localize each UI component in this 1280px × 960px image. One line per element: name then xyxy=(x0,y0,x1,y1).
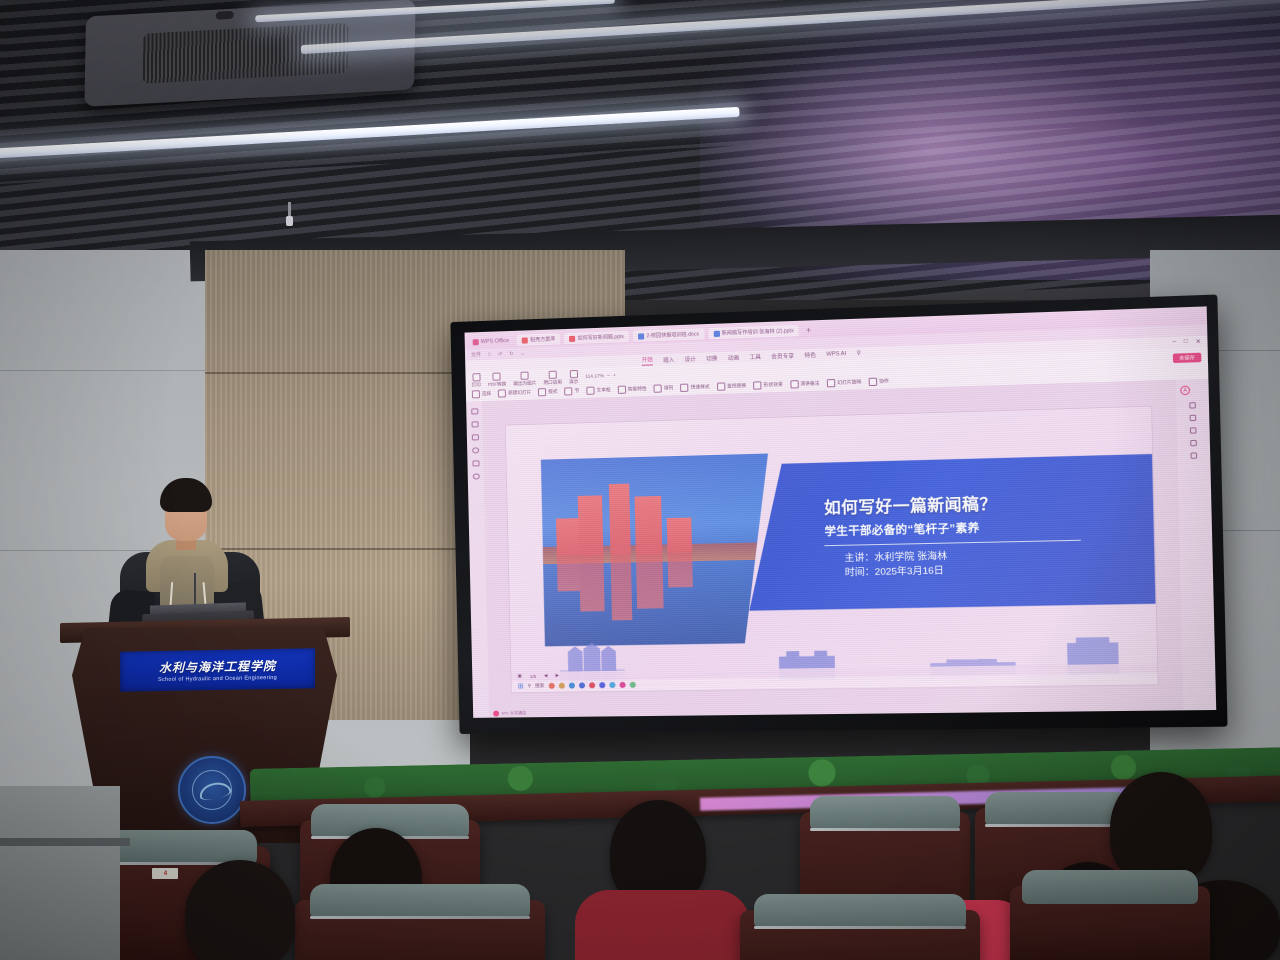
search-icon[interactable]: ⚲ xyxy=(857,350,861,356)
section-button[interactable]: 节 xyxy=(565,387,580,396)
present-button[interactable]: 演示 xyxy=(569,370,579,385)
ac-grille-icon xyxy=(143,23,349,84)
tab-transition[interactable]: 切换 xyxy=(706,354,718,363)
browser-icon[interactable] xyxy=(609,682,615,688)
close-button[interactable]: ✕ xyxy=(1195,338,1201,346)
tab-start[interactable]: 开始 xyxy=(642,355,653,365)
print-icon xyxy=(472,373,480,381)
seat-trim xyxy=(985,824,1130,827)
select-button[interactable]: 选择 xyxy=(472,390,491,399)
tab-label: 如何写好新闻稿.pptx xyxy=(577,333,624,342)
slide-title: 如何写好一篇新闻稿？ xyxy=(824,486,1154,519)
pocket-icon xyxy=(548,371,556,379)
wechat-icon[interactable] xyxy=(569,683,575,689)
notes-icon xyxy=(790,380,799,388)
select-label: 选择 xyxy=(482,391,491,397)
edge-icon[interactable] xyxy=(548,683,554,689)
ceiling-pendant-sensor xyxy=(288,202,291,218)
layout-icon xyxy=(538,388,546,396)
seat-trim xyxy=(810,828,960,831)
collab-label: 协作 xyxy=(879,378,889,384)
quick-style-button[interactable]: 快速样式 xyxy=(680,383,709,392)
dock-icon xyxy=(522,337,528,343)
find-replace-icon xyxy=(717,382,725,390)
section-icon xyxy=(565,387,573,395)
seat-headrest xyxy=(985,792,1130,826)
ink-icon[interactable] xyxy=(472,460,479,466)
seat-number-plate: 4 xyxy=(152,868,178,879)
textbox-icon xyxy=(586,387,594,395)
led-presentation-screen[interactable]: WPS Office 稻壳方案库 如何写好新闻稿.pptx 2-校园快 xyxy=(450,294,1227,734)
pdf-convert-icon xyxy=(493,372,501,380)
taskbar-search-label[interactable]: 搜索 xyxy=(535,683,544,689)
collab-icon xyxy=(869,378,878,386)
arrange-icon xyxy=(654,384,662,392)
tab-animation[interactable]: 动画 xyxy=(728,353,740,362)
screen-bezel: WPS Office 稻壳方案库 如何写好新闻稿.pptx 2-校园快 xyxy=(450,294,1227,734)
ai-assistant-icon[interactable]: A xyxy=(1180,386,1190,396)
slideshow-icon xyxy=(827,379,836,387)
new-tab-button[interactable]: + xyxy=(803,325,814,335)
notes-button[interactable]: 演讲备注 xyxy=(790,379,820,388)
find-replace-button[interactable]: 查找替换 xyxy=(717,382,746,391)
podium-nameplate: 水利与海洋工程学院 School of Hydraulic and Ocean … xyxy=(120,648,315,691)
notes-panel-icon[interactable] xyxy=(471,434,478,440)
watermark-label: 1PC 大写通话 xyxy=(501,710,526,716)
more-icon[interactable] xyxy=(1190,452,1197,458)
tab-tools[interactable]: 工具 xyxy=(749,352,761,361)
chevron-down-icon[interactable]: ⌄ xyxy=(520,350,524,356)
audience-shoulders xyxy=(575,890,750,960)
quick-style-label: 快速样式 xyxy=(691,384,710,391)
podium-sign-chinese: 水利与海洋工程学院 xyxy=(159,657,276,676)
design-icon[interactable] xyxy=(1189,402,1196,408)
ppt-icon xyxy=(713,330,719,336)
quick-style-icon xyxy=(680,384,688,392)
seat-headrest xyxy=(754,894,965,928)
tab-member[interactable]: 会员专享 xyxy=(771,351,794,360)
note-icon[interactable] xyxy=(629,682,635,688)
wps-brand-logo: WPS Office xyxy=(469,336,513,346)
status-prev-icon[interactable]: ◀ xyxy=(544,673,548,679)
layout-button[interactable]: 版式 xyxy=(538,388,558,397)
campus-building-photo xyxy=(541,453,773,646)
ppt-icon xyxy=(569,335,575,341)
arrange-button[interactable]: 排列 xyxy=(654,384,674,393)
search-icon[interactable]: ⚲ xyxy=(528,683,532,689)
wps-workspace[interactable]: 如何写好一篇新闻稿？ 学生干部必备的“笔杆子”素养 主讲：水利学院 张海林 时间… xyxy=(466,379,1216,718)
new-slide-label: 新建幻灯片 xyxy=(508,390,531,397)
presenter-hair xyxy=(160,478,212,512)
wps-ai-button[interactable]: WPS AI xyxy=(826,350,846,357)
stage-floor xyxy=(0,786,120,960)
notes-label: 演讲备注 xyxy=(800,380,819,387)
seat-headrest xyxy=(810,796,960,830)
save-icon[interactable]: □ xyxy=(488,351,491,357)
shape-icon[interactable] xyxy=(1190,440,1197,446)
zoom-value: 114.17% xyxy=(585,374,604,380)
seat[interactable] xyxy=(295,900,545,960)
export-image-icon xyxy=(521,372,529,380)
layout-label: 版式 xyxy=(548,389,557,395)
maximize-button[interactable]: □ xyxy=(1184,338,1188,345)
export-image-label: 输出为图片 xyxy=(513,380,536,387)
smart-icon xyxy=(618,386,626,394)
tab-insert[interactable]: 插入 xyxy=(663,355,674,363)
folder-icon[interactable] xyxy=(558,683,564,689)
tab-design[interactable]: 设计 xyxy=(685,354,696,362)
lecture-hall-scene: WPS Office 稻壳方案库 如何写好新闻稿.pptx 2-校园快 xyxy=(0,0,1280,960)
tab-label: 2-校园快报培训班.docx xyxy=(646,330,699,339)
smart-label: 智能特性 xyxy=(628,386,647,393)
document-tab-active[interactable]: 新闻稿写作培训 张海林 (2).pptx xyxy=(708,325,799,339)
music-icon[interactable] xyxy=(589,682,595,688)
present-label: 演示 xyxy=(569,379,578,385)
print-button[interactable]: 打印 xyxy=(471,373,481,388)
find-replace-label: 查找替换 xyxy=(727,383,746,390)
seat-trim xyxy=(754,926,965,929)
pocket-label: 用口袋用 xyxy=(543,380,562,387)
pocket-button[interactable]: 用口袋用 xyxy=(543,370,562,386)
pdf-convert-label: PDF转换 xyxy=(488,381,507,388)
wps-office-window[interactable]: WPS Office 稻壳方案库 如何写好新闻稿.pptx 2-校园快 xyxy=(465,306,1217,717)
wps-brand-label: WPS Office xyxy=(481,338,509,345)
section-label: 节 xyxy=(575,388,580,394)
shape-effect-label: 形状效果 xyxy=(764,382,783,389)
shape-effect-button[interactable]: 形状效果 xyxy=(753,381,783,390)
slide-1[interactable]: 如何写好一篇新闻稿？ 学生干部必备的“笔杆子”素养 主讲：水利学院 张海林 时间… xyxy=(506,407,1158,692)
arrange-label: 排列 xyxy=(664,385,674,391)
seat-trim xyxy=(310,916,530,919)
shape-effect-icon xyxy=(753,381,761,389)
window-controls[interactable]: – □ ✕ xyxy=(1172,338,1207,346)
document-tab[interactable]: 2-校园快报培训班.docx xyxy=(633,328,704,342)
comment-icon[interactable] xyxy=(472,447,479,453)
outline-icon[interactable] xyxy=(471,421,478,427)
screen-surface: WPS Office 稻壳方案库 如何写好新闻稿.pptx 2-校园快 xyxy=(465,306,1217,717)
podium-sign-english: School of Hydraulic and Ocean Engineerin… xyxy=(158,675,277,683)
slide-panel-icon[interactable] xyxy=(471,408,478,414)
textbox-label: 文本框 xyxy=(597,387,611,393)
export-image-button[interactable]: 输出为图片 xyxy=(513,371,536,387)
new-slide-icon xyxy=(498,389,506,397)
watermark-icon xyxy=(493,711,499,717)
seat-headrest xyxy=(310,884,530,918)
slideshow-label: 幻灯片放映 xyxy=(837,379,861,386)
pdf-convert-button[interactable]: PDF转换 xyxy=(488,372,507,388)
material-icon[interactable] xyxy=(1190,415,1197,421)
present-icon xyxy=(569,370,577,378)
status-page-indicator: 1/8 xyxy=(530,674,536,679)
zoom-control[interactable]: 114.17% − + xyxy=(585,374,616,380)
screen-watermark: 1PC 大写通话 xyxy=(493,710,526,716)
wps-logo-icon xyxy=(473,339,479,345)
smart-button[interactable]: 智能特性 xyxy=(618,385,647,394)
ac-sensor xyxy=(216,11,234,20)
seat-headrest xyxy=(1022,870,1198,904)
tab-label: 稻壳方案库 xyxy=(530,335,555,343)
audience-head xyxy=(185,860,295,960)
status-next-icon[interactable]: ▶ xyxy=(555,673,559,679)
audience-head xyxy=(1110,772,1212,884)
mail-icon[interactable] xyxy=(599,682,605,688)
doc-icon xyxy=(638,333,644,339)
qq-icon[interactable] xyxy=(579,683,585,689)
redo-icon[interactable]: ↻ xyxy=(509,350,513,356)
textbox-button[interactable]: 文本框 xyxy=(586,386,610,395)
slide-title-band: 如何写好一篇新闻稿？ 学生干部必备的“笔杆子”素养 主讲：水利学院 张海林 时间… xyxy=(746,454,1156,611)
start-button[interactable]: ⊞ xyxy=(518,682,524,690)
zoom-in-icon[interactable]: + xyxy=(613,374,616,379)
slide-divider xyxy=(825,540,1081,546)
file-menu[interactable]: 文件 xyxy=(471,351,481,358)
seat[interactable] xyxy=(740,910,980,960)
status-view-icon[interactable]: ▣ xyxy=(518,673,522,679)
meeting-icon[interactable] xyxy=(619,682,625,688)
zoom-out-icon[interactable]: − xyxy=(607,374,610,379)
new-slide-button[interactable]: 新建幻灯片 xyxy=(498,389,531,398)
seat[interactable] xyxy=(1010,886,1210,960)
select-icon xyxy=(472,390,480,398)
tab-label: 新闻稿写作培训 张海林 (2).pptx xyxy=(722,327,794,337)
chart-icon[interactable] xyxy=(1190,427,1197,433)
tab-features[interactable]: 特色 xyxy=(804,350,816,359)
right-icon-rail[interactable]: A xyxy=(1176,379,1217,711)
university-emblem-icon xyxy=(178,756,246,824)
undo-icon[interactable]: ↺ xyxy=(498,351,502,357)
slide-canvas[interactable]: 如何写好一篇新闻稿？ 学生干部必备的“笔杆子”素养 主讲：水利学院 张海林 时间… xyxy=(482,380,1183,718)
document-tab[interactable]: 稻壳方案库 xyxy=(517,333,561,346)
settings-icon[interactable] xyxy=(472,473,479,479)
save-status-badge[interactable]: 未保存 xyxy=(1172,353,1201,363)
stage-edge xyxy=(0,838,130,846)
document-tab[interactable]: 如何写好新闻稿.pptx xyxy=(564,331,629,344)
collab-button[interactable]: 协作 xyxy=(869,377,889,386)
slideshow-button[interactable]: 幻灯片放映 xyxy=(827,378,862,387)
print-label: 打印 xyxy=(472,382,481,388)
minimize-button[interactable]: – xyxy=(1172,339,1176,346)
slide-subtitle: 学生干部必备的“笔杆子”素养 xyxy=(824,516,1154,540)
